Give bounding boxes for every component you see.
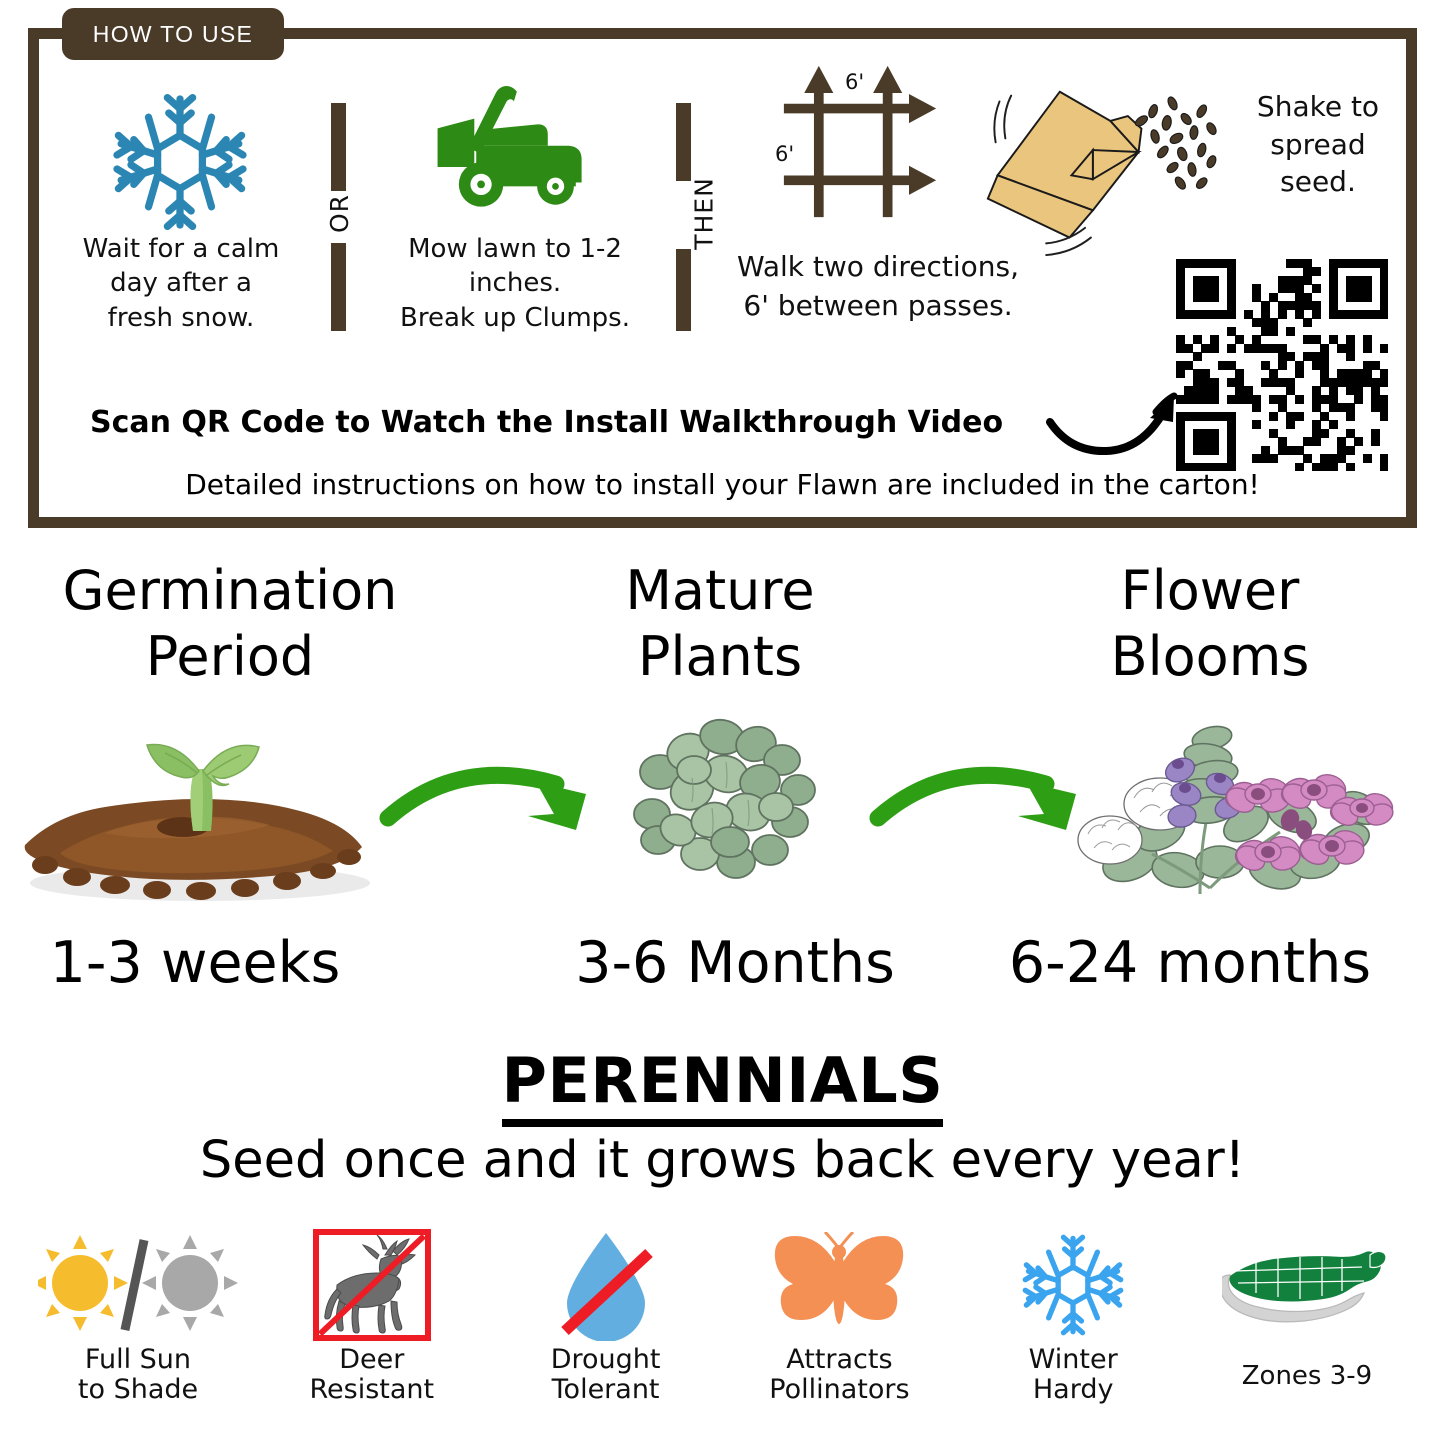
feature-drought-tolerant: Drought Tolerant (496, 1232, 716, 1405)
usa-map-icon (1222, 1238, 1392, 1344)
step-2-caption: Mow lawn to 1-2 inches. Break up Clumps. (370, 232, 660, 335)
butterfly-icon (769, 1232, 909, 1338)
feature-label-full-sun-to-shade: Full Sun to Shade (78, 1345, 198, 1405)
seed-carton-icon (985, 82, 1225, 257)
flowering-clover-icon (1060, 712, 1410, 902)
feature-deer-resistant: Deer Resistant (262, 1232, 482, 1405)
timeline-title-mature: Mature Plants (510, 558, 930, 690)
lawn-mower-icon (400, 80, 595, 225)
snowflake-icon (1020, 1232, 1126, 1338)
detailed-instructions-text: Detailed instructions on how to install … (28, 468, 1417, 501)
perennials-subheading: Seed once and it grows back every year! (0, 1131, 1445, 1190)
feature-label-winter-hardy: Winter Hardy (1029, 1345, 1118, 1405)
no-water-drop-icon (551, 1232, 661, 1338)
qr-code-icon[interactable] (1176, 259, 1388, 471)
feature-zones: Zones 3-9 (1197, 1232, 1417, 1391)
timeline-duration-germination: 1-3 weeks (10, 930, 380, 996)
feature-full-sun-to-shade: Full Sun to Shade (28, 1232, 248, 1405)
divider-label-then: THEN (690, 158, 719, 270)
timeline-duration-mature: 3-6 Months (540, 930, 930, 996)
feature-winter-hardy: Winter Hardy (963, 1232, 1183, 1405)
feature-attracts-pollinators: Attracts Pollinators (729, 1232, 949, 1405)
snowflake-icon (110, 92, 250, 232)
feature-label-deer-resistant: Deer Resistant (309, 1345, 434, 1405)
feature-label-zones: Zones 3-9 (1242, 1362, 1372, 1391)
no-deer-icon (313, 1232, 431, 1338)
how-to-use-tab-label: HOW TO USE (93, 21, 253, 48)
seedling-in-soil-icon (5, 705, 385, 905)
feature-label-drought-tolerant: Drought Tolerant (551, 1345, 661, 1405)
divider-bar-or-bottom (331, 243, 346, 331)
step-1-caption: Wait for a calm day after a fresh snow. (52, 232, 310, 335)
timeline-title-flower: Flower Blooms (1000, 558, 1420, 690)
walk-measure-left: 6' (775, 142, 794, 166)
divider-bar-then-bottom (676, 249, 691, 331)
clover-clump-icon (630, 712, 830, 892)
timeline-duration-flower: 6-24 months (965, 930, 1415, 996)
timeline-title-germination: Germination Period (20, 558, 440, 690)
feature-label-attracts-pollinators: Attracts Pollinators (769, 1345, 909, 1405)
divider-bar-or-top (331, 103, 346, 191)
curved-arrow-icon (1046, 392, 1181, 460)
walk-caption-line2: 6' between passes. (718, 288, 1038, 325)
sun-and-shade-icon (38, 1232, 238, 1338)
shake-caption: Shake to spread seed. (1218, 88, 1418, 201)
perennials-heading-text: PERENNIALS (502, 1044, 944, 1127)
green-curved-arrow-icon (378, 752, 603, 844)
scan-qr-text: Scan QR Code to Watch the Install Walkth… (90, 405, 1050, 440)
perennials-heading: PERENNIALS (0, 1044, 1445, 1117)
divider-label-or: OR (325, 186, 354, 241)
feature-icons-row: Full Sun to Shade (0, 1232, 1445, 1442)
how-to-use-tab: HOW TO USE (62, 8, 284, 60)
walk-measure-top: 6' (845, 70, 864, 94)
